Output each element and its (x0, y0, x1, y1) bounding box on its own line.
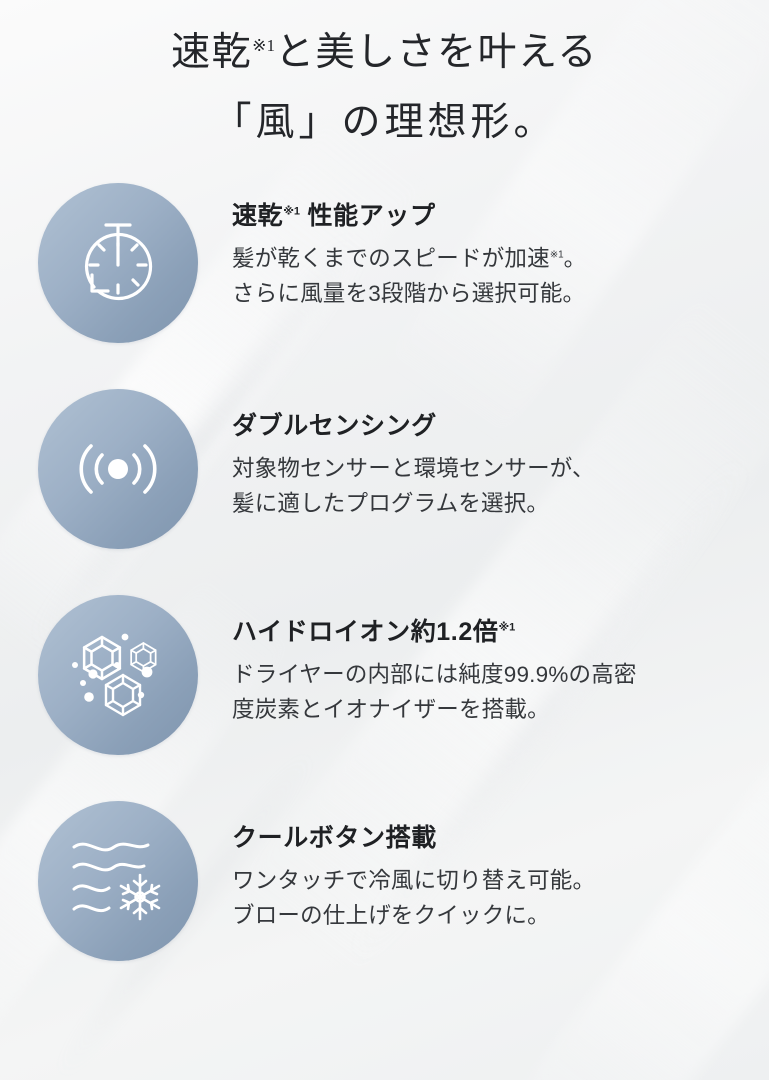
feature-description-text-a: ドライヤーの内部には純度99.9%の高密 (232, 662, 637, 687)
stopwatch-icon (38, 183, 198, 343)
feature-description-line-1: ドライヤーの内部には純度99.9%の高密 (232, 657, 637, 692)
feature-item-double-sensing: ダブルセンシング 対象物センサーと環境センサーが、 髪に適したプログラムを選択。 (0, 389, 769, 549)
feature-list: 速乾※1 性能アップ 髪が乾くまでのスピードが加速※1。 さらに風量を3段階から… (0, 183, 769, 961)
feature-description-line-1: 対象物センサーと環境センサーが、 (232, 451, 595, 486)
feature-title: ハイドロイオン約1.2倍※1 (232, 617, 637, 648)
wind-snowflake-icon (38, 801, 198, 961)
feature-title-footnote-marker: ※1 (283, 206, 300, 218)
headline-line-2: 「風」の理想形。 (0, 88, 769, 158)
feature-description-line-2: さらに風量を3段階から選択可能。 (232, 276, 586, 311)
feature-description-line-2: ブローの仕上げをクイックに。 (232, 898, 595, 933)
ion-crystal-icon (38, 595, 198, 755)
headline-footnote-marker: ※1 (252, 36, 275, 55)
feature-title-footnote-marker: ※1 (498, 622, 515, 634)
feature-item-hydro-ion: ハイドロイオン約1.2倍※1 ドライヤーの内部には純度99.9%の高密 度炭素と… (0, 595, 769, 755)
feature-text-fast-dry: 速乾※1 性能アップ 髪が乾くまでのスピードが加速※1。 さらに風量を3段階から… (198, 183, 586, 311)
headline-line-1-text-a: 速乾 (171, 31, 252, 74)
headline-line-1: 速乾※1と美しさを叶える (0, 18, 769, 88)
feature-title-text-a: 速乾 (232, 202, 283, 230)
feature-title: クールボタン搭載 (232, 823, 595, 854)
feature-description-line-1: 髪が乾くまでのスピードが加速※1。 (232, 241, 586, 276)
feature-title-text-a: クールボタン搭載 (232, 824, 437, 852)
product-feature-page: 速乾※1と美しさを叶える 「風」の理想形。 (0, 0, 769, 1080)
feature-description-text-a: ワンタッチで冷風に切り替え可能。 (232, 868, 595, 893)
feature-description-line-2: 度炭素とイオナイザーを搭載。 (232, 692, 637, 727)
feature-text-double-sensing: ダブルセンシング 対象物センサーと環境センサーが、 髪に適したプログラムを選択。 (198, 389, 595, 521)
feature-item-cool-button: クールボタン搭載 ワンタッチで冷風に切り替え可能。 ブローの仕上げをクイックに。 (0, 801, 769, 961)
feature-description-line-1: ワンタッチで冷風に切り替え可能。 (232, 863, 595, 898)
feature-title: 速乾※1 性能アップ (232, 201, 586, 232)
page-headline: 速乾※1と美しさを叶える 「風」の理想形。 (0, 0, 769, 158)
feature-description-text-a: 対象物センサーと環境センサーが、 (232, 456, 595, 481)
feature-description-footnote-marker: ※1 (550, 250, 564, 261)
feature-description-text-b: 。 (564, 246, 587, 271)
sensor-signal-icon (38, 389, 198, 549)
feature-title-text-b: 性能アップ (300, 202, 436, 230)
feature-item-fast-dry: 速乾※1 性能アップ 髪が乾くまでのスピードが加速※1。 さらに風量を3段階から… (0, 183, 769, 343)
feature-title: ダブルセンシング (232, 411, 595, 442)
feature-description-text-a: 髪が乾くまでのスピードが加速 (232, 246, 550, 271)
feature-text-hydro-ion: ハイドロイオン約1.2倍※1 ドライヤーの内部には純度99.9%の高密 度炭素と… (198, 595, 637, 727)
feature-title-text-a: ハイドロイオン約1.2倍 (232, 618, 498, 646)
feature-title-text-a: ダブルセンシング (232, 412, 437, 440)
headline-line-1-text-b: と美しさを叶える (275, 31, 598, 74)
feature-description-line-2: 髪に適したプログラムを選択。 (232, 486, 595, 521)
feature-text-cool-button: クールボタン搭載 ワンタッチで冷風に切り替え可能。 ブローの仕上げをクイックに。 (198, 801, 595, 933)
